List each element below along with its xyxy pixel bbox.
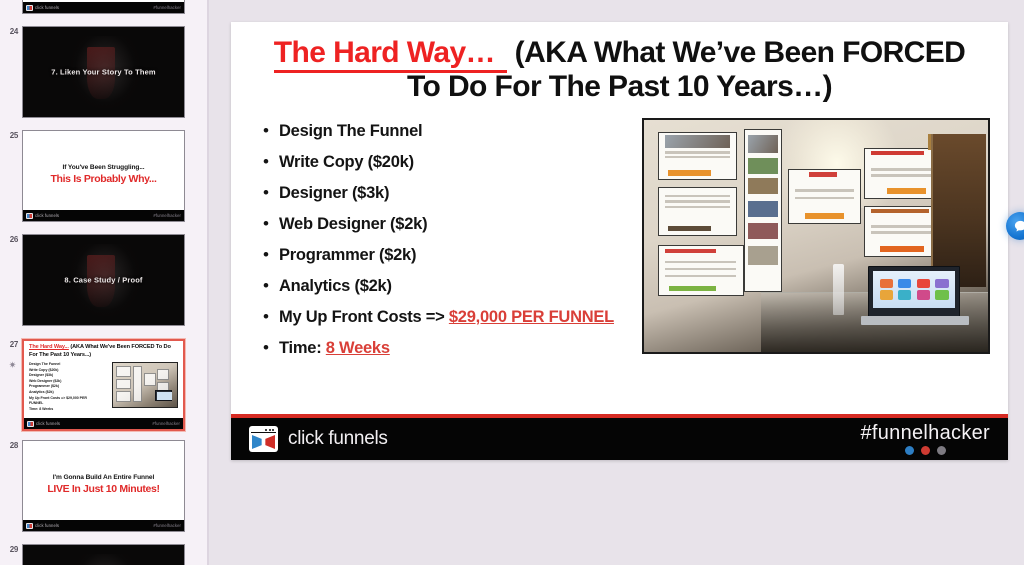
- bullet-item: • Write Copy ($20k): [253, 151, 628, 173]
- bullet-label-highlight: 8 Weeks: [326, 339, 390, 357]
- thumbnail-number: 28: [0, 440, 22, 451]
- thumbnail-subtitle: LIVE In Just 10 Minutes!: [29, 484, 178, 495]
- bullet-item: • Analytics ($2k): [253, 275, 628, 297]
- bullet-dot-icon: •: [253, 182, 279, 204]
- bullet-label-plain: Time:: [279, 339, 326, 357]
- funnel-poster: [864, 148, 940, 199]
- youtube-icon[interactable]: [921, 446, 930, 455]
- thumbnail-slide-29[interactable]: 29: [0, 544, 207, 565]
- thumbnail-number: 29: [0, 544, 22, 555]
- bullet-item: • Design The Funnel: [253, 120, 628, 142]
- bullet-item: • Designer ($3k): [253, 182, 628, 204]
- bullet-item: • Programmer ($2k): [253, 244, 628, 266]
- funnel-poster: [658, 187, 737, 236]
- slide-title-highlight: The Hard Way…: [274, 36, 507, 73]
- bullet-dot-icon: •: [253, 244, 279, 266]
- thumbnail-bullet-list: Design The Funnel Write Copy ($20k) Desi…: [29, 362, 108, 412]
- chat-bubble-icon: [1013, 219, 1024, 234]
- bullet-label: My Up Front Costs => $29,000 PER FUNNEL: [279, 306, 614, 328]
- bullet-dot-icon: •: [253, 120, 279, 142]
- thumbnail-frame[interactable]: 7. Liken Your Story To Them: [22, 26, 185, 118]
- laptop: [868, 266, 961, 319]
- thumbnail-content: The Hard Way... (AKA What We've Been FOR…: [24, 341, 183, 429]
- laptop-screen: [873, 271, 955, 308]
- thumbnail-footer: click funnels #funnelhacker: [23, 2, 184, 13]
- thumbnail-title: 7. Liken Your Story To Them: [23, 68, 184, 77]
- thumbnail-slide-24[interactable]: 24 7. Liken Your Story To Them: [0, 26, 207, 118]
- thumbnail-frame[interactable]: 8. Case Study / Proof: [22, 234, 185, 326]
- twitter-icon[interactable]: [937, 446, 946, 455]
- thumbnail-content: I'm Gonna Build An Entire Funnel LIVE In…: [23, 441, 184, 531]
- facebook-icon[interactable]: [905, 446, 914, 455]
- thumbnail-subtitle: This Is Probably Why...: [29, 174, 178, 185]
- clickfunnels-logo-icon: [26, 523, 33, 529]
- funnel-poster: [658, 245, 744, 296]
- thumbnail-number: 24: [0, 26, 22, 37]
- thumbnail-content: [23, 545, 184, 565]
- thumbnail-footer-brand: click funnels: [35, 523, 59, 528]
- thumbnail-footer: click funnels #funnelhacker: [24, 418, 183, 429]
- footer-hashtag-block: #funnelhacker: [860, 423, 990, 455]
- water-bottle: [833, 264, 844, 315]
- animation-indicator-icon: ✷: [8, 361, 17, 370]
- bullet-label: Analytics ($2k): [279, 275, 392, 297]
- thumbnail-frame-selected[interactable]: The Hard Way... (AKA What We've Been FOR…: [22, 339, 185, 431]
- hashtag-label: #funnelhacker: [860, 423, 990, 444]
- thumbnail-footer: click funnels #funnelhacker: [23, 520, 184, 531]
- bullet-item: • My Up Front Costs => $29,000 PER FUNNE…: [253, 306, 628, 328]
- thumbnail-number: 25: [0, 130, 22, 141]
- thumbnail-footer: click funnels #funnelhacker: [23, 210, 184, 221]
- thumbnail-footer-brand: click funnels: [36, 421, 60, 426]
- slide-body: • Design The Funnel • Write Copy ($20k) …: [231, 104, 1008, 368]
- thumbnail-content: click funnels #funnelhacker: [23, 0, 184, 13]
- clickfunnels-brand: click funnels: [249, 426, 388, 452]
- thumbnail-slide-28[interactable]: 28 I'm Gonna Build An Entire Funnel LIVE…: [0, 440, 207, 532]
- thumbnail-frame[interactable]: [22, 544, 185, 565]
- support-chat-button[interactable]: [1006, 212, 1024, 240]
- thumbnail-title: 8. Case Study / Proof: [23, 276, 184, 285]
- bullet-dot-icon: •: [253, 306, 279, 328]
- bullet-dot-icon: •: [253, 337, 279, 359]
- thumbnail-title-red: The Hard Way...: [29, 344, 69, 350]
- slide-footer: click funnels #funnelhacker: [231, 414, 1008, 460]
- brand-name: click funnels: [288, 428, 388, 450]
- presentation-viewer: 23 click funnels #funnelhacker 24: [0, 0, 1024, 565]
- thumbnail-slide-23[interactable]: 23 click funnels #funnelhacker: [0, 0, 207, 14]
- thumbnail-frame[interactable]: I'm Gonna Build An Entire Funnel LIVE In…: [22, 440, 185, 532]
- bullet-label: Write Copy ($20k): [279, 151, 414, 173]
- thumbnail-number: 27: [0, 339, 22, 350]
- thumbnail-footer-tag: #funnelhacker: [152, 421, 180, 426]
- bullet-dot-icon: •: [253, 151, 279, 173]
- thumbnail-footer-tag: #funnelhacker: [153, 213, 181, 218]
- bullet-label-highlight: $29,000 PER FUNNEL: [449, 308, 614, 326]
- bullet-label: Time: 8 Weeks: [279, 337, 390, 359]
- thumbnail-frame[interactable]: click funnels #funnelhacker: [22, 0, 185, 14]
- funnel-poster: [658, 132, 737, 181]
- bullet-item: • Time: 8 Weeks: [253, 337, 628, 359]
- funnel-poster-tall: [744, 129, 782, 291]
- thumbnail-content: 8. Case Study / Proof: [23, 235, 184, 325]
- funnel-poster: [864, 206, 940, 257]
- bullet-label: Web Designer ($2k): [279, 213, 427, 235]
- bullet-list: • Design The Funnel • Write Copy ($20k) …: [253, 118, 628, 368]
- bullet-label: Designer ($3k): [279, 182, 389, 204]
- thumbnail-slide-25[interactable]: 25 If You've Been Struggling... This Is …: [0, 130, 207, 222]
- slide-title: The Hard Way… (AKA What We’ve Been FORCE…: [231, 22, 1008, 104]
- bullet-dot-icon: •: [253, 275, 279, 297]
- thumbnail-footer-tag: #funnelhacker: [153, 523, 181, 528]
- social-icon-row: [860, 446, 990, 455]
- doorway: [931, 134, 986, 287]
- thumbnail-frame[interactable]: If You've Been Struggling... This Is Pro…: [22, 130, 185, 222]
- thumbnail-title: The Hard Way... (AKA What We've Been FOR…: [24, 341, 183, 359]
- bullet-label-plain: My Up Front Costs =>: [279, 308, 449, 326]
- current-slide[interactable]: The Hard Way… (AKA What We’ve Been FORCE…: [231, 22, 1008, 460]
- thumbnail-footer-tag: #funnelhacker: [153, 5, 181, 10]
- bullet-dot-icon: •: [253, 213, 279, 235]
- bullet-label: Design The Funnel: [279, 120, 422, 142]
- bullet-label: Programmer ($2k): [279, 244, 416, 266]
- clickfunnels-logo-icon: [26, 5, 33, 11]
- thumbnail-title: I'm Gonna Build An Entire Funnel: [29, 474, 178, 481]
- thumbnail-slide-27[interactable]: 27 ✷ The Hard Way... (AKA What We've Bee…: [0, 339, 207, 431]
- slide-thumbnail-sidebar[interactable]: 23 click funnels #funnelhacker 24: [0, 0, 209, 565]
- thumbnail-title: If You've Been Struggling...: [29, 164, 178, 171]
- thumbnail-content: 7. Liken Your Story To Them: [23, 27, 184, 117]
- thumbnail-photo: [112, 362, 178, 408]
- thumbnail-number: 26: [0, 234, 22, 245]
- thumbnail-bullet: Time: 8 Weeks: [29, 407, 108, 413]
- thumbnail-slide-26[interactable]: 26 8. Case Study / Proof: [0, 234, 207, 326]
- thumbnail-footer-brand: click funnels: [35, 213, 59, 218]
- thumbnail-footer-brand: click funnels: [35, 5, 59, 10]
- office-wall-photo: [642, 118, 990, 354]
- clickfunnels-logo-icon: [27, 421, 34, 427]
- clickfunnels-logo-icon: [249, 426, 278, 452]
- main-slide-area: The Hard Way… (AKA What We’ve Been FORCE…: [209, 0, 1024, 565]
- funnel-poster: [788, 169, 860, 225]
- thumbnail-content: If You've Been Struggling... This Is Pro…: [23, 131, 184, 221]
- clickfunnels-logo-icon: [26, 213, 33, 219]
- bullet-item: • Web Designer ($2k): [253, 213, 628, 235]
